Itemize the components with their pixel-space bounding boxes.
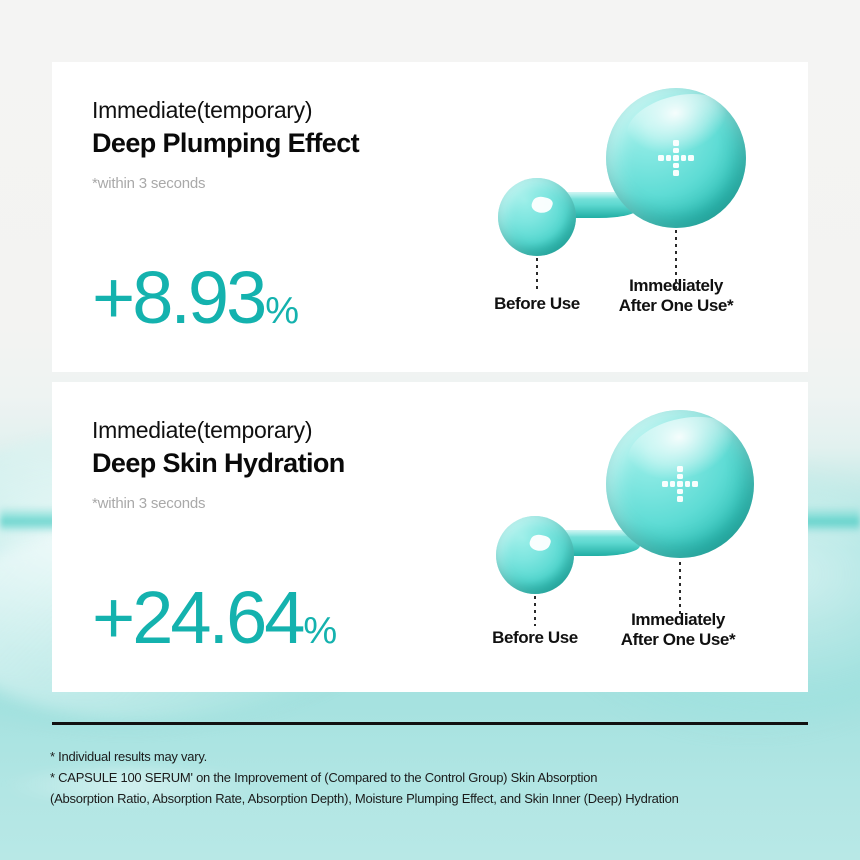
- droplet-before-use: [498, 178, 576, 256]
- droplet-before-use: [496, 516, 574, 594]
- plus-icon: [662, 466, 698, 502]
- figure-label-before-use: Before Use: [474, 628, 596, 648]
- footer-divider-rule: [52, 722, 808, 725]
- claim-card-plumping: Immediate(temporary) Deep Plumping Effec…: [52, 62, 808, 372]
- leader-line-before-use: [534, 596, 536, 626]
- card-headline: Deep Plumping Effect: [92, 127, 492, 161]
- card-statistic: +24.64 %: [92, 585, 336, 652]
- card-subnote: *within 3 seconds: [92, 495, 492, 512]
- droplet-figure: Before Use Immediately After One Use*: [474, 382, 794, 692]
- card-text-block: Immediate(temporary) Deep Skin Hydration…: [92, 416, 492, 512]
- droplet-figure: Before Use Immediately After One Use*: [474, 62, 794, 372]
- card-subnote: *within 3 seconds: [92, 175, 492, 192]
- card-eyebrow: Immediate(temporary): [92, 96, 492, 125]
- leader-line-before-use: [536, 258, 538, 292]
- statistic-unit: %: [303, 614, 336, 648]
- card-statistic: +8.93 %: [92, 265, 298, 332]
- figure-label-after-one-use: Immediately After One Use*: [605, 276, 747, 316]
- footnote-line: * Individual results may vary.: [50, 746, 820, 767]
- figure-label-after-one-use: Immediately After One Use*: [607, 610, 749, 650]
- statistic-value: +8.93: [92, 265, 264, 332]
- statistic-unit: %: [265, 294, 298, 328]
- card-eyebrow: Immediate(temporary): [92, 416, 492, 445]
- claim-card-hydration: Immediate(temporary) Deep Skin Hydration…: [52, 382, 808, 692]
- plus-icon: [658, 140, 694, 176]
- figure-label-before-use: Before Use: [476, 294, 598, 314]
- card-text-block: Immediate(temporary) Deep Plumping Effec…: [92, 96, 492, 192]
- footnote-block: * Individual results may vary. * CAPSULE…: [50, 746, 820, 809]
- statistic-value: +24.64: [92, 585, 302, 652]
- footnote-line: * CAPSULE 100 SERUM' on the Improvement …: [50, 767, 820, 809]
- card-headline: Deep Skin Hydration: [92, 447, 492, 481]
